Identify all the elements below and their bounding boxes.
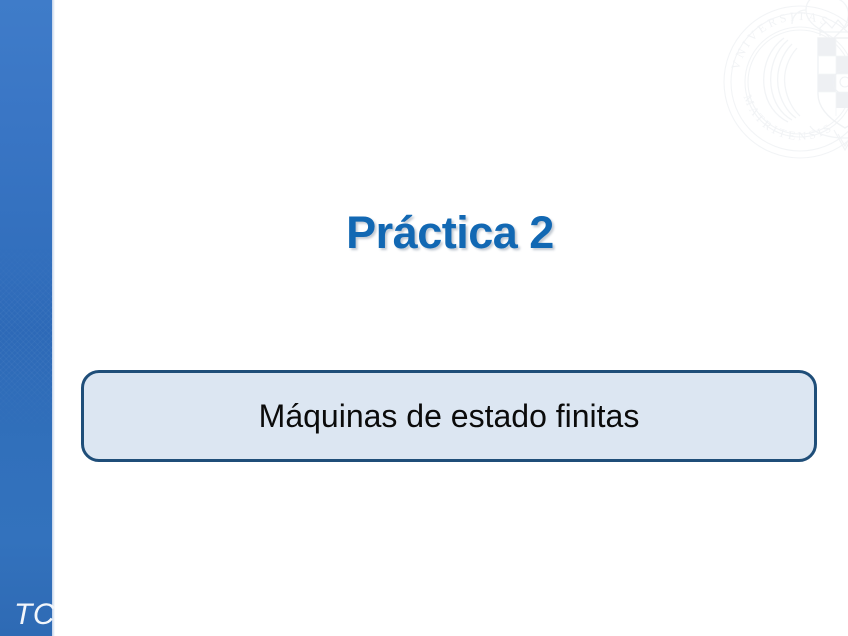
university-crest-logo: VNIVERSITAS MATRITENSIS [722, 0, 848, 180]
course-initials-label: TC [14, 598, 55, 632]
page-title: Práctica 2 [52, 205, 848, 260]
subtitle-text: Máquinas de estado finitas [259, 397, 640, 435]
presentation-slide: TC VNIVERSITAS MATRITENSIS [0, 0, 848, 636]
slide-sidebar-band [0, 0, 52, 636]
sidebar-texture-overlay [0, 0, 52, 636]
subtitle-callout-box: Máquinas de estado finitas [81, 370, 817, 462]
sidebar-edge-highlight [52, 0, 55, 636]
